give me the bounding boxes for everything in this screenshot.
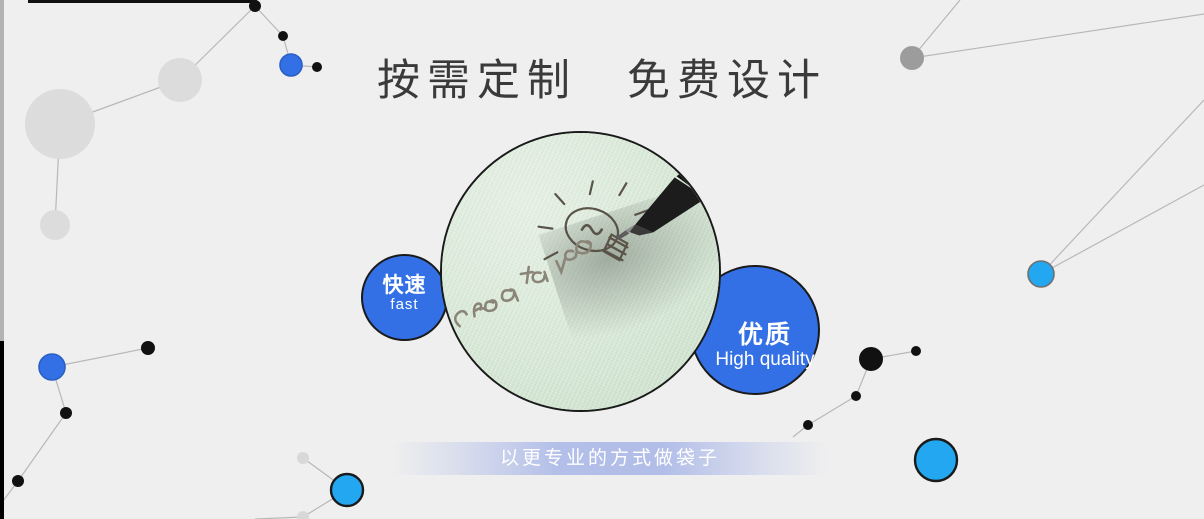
network-node	[297, 511, 309, 519]
badge-circle-fast	[361, 254, 448, 341]
lightbulb-sketch-art	[442, 133, 719, 410]
network-edge	[303, 458, 347, 490]
network-node	[40, 210, 70, 240]
network-edge	[793, 425, 808, 437]
left-black-strip	[0, 341, 4, 519]
creative-photo-circle	[440, 131, 721, 412]
network-edge	[18, 413, 66, 481]
network-node	[331, 474, 363, 506]
network-node	[278, 31, 288, 41]
network-edge	[303, 490, 347, 517]
network-node	[297, 452, 309, 464]
network-node	[851, 391, 861, 401]
network-node	[915, 439, 957, 481]
network-node	[12, 475, 24, 487]
network-edge	[52, 367, 66, 413]
network-edge	[871, 351, 916, 359]
network-edge	[52, 348, 148, 367]
network-node	[60, 407, 72, 419]
top-black-line	[28, 0, 257, 3]
network-node	[803, 420, 813, 430]
network-node	[859, 347, 883, 371]
network-edge	[1041, 185, 1204, 274]
network-node	[911, 346, 921, 356]
slogan-bar: 以更专业的方式做袋子	[392, 442, 828, 475]
network-node	[39, 354, 65, 380]
slogan-text: 以更专业的方式做袋子	[392, 442, 828, 475]
headline: 按需定制 免费设计	[0, 46, 1204, 108]
network-edge	[856, 359, 871, 396]
network-edge	[255, 6, 283, 36]
promo-banner: 按需定制 免费设计	[0, 0, 1204, 519]
network-node	[1028, 261, 1054, 287]
network-edge	[808, 396, 856, 425]
network-node	[141, 341, 155, 355]
network-edge	[55, 124, 60, 225]
network-edge	[1041, 100, 1204, 274]
